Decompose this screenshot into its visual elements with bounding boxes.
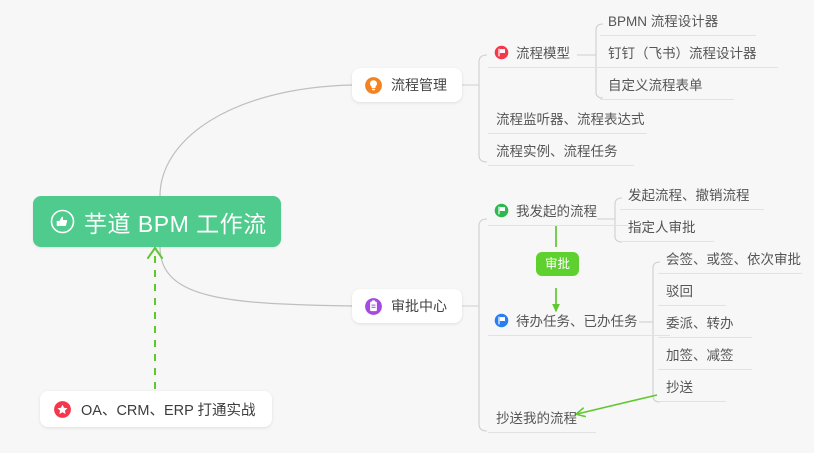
leaf-start-cancel-process[interactable]: 发起流程、撤销流程 [620, 187, 764, 210]
leaf-reject[interactable]: 驳回 [658, 283, 726, 306]
lightbulb-icon [364, 76, 383, 95]
leaf-carbon-copy[interactable]: 抄送 [658, 379, 726, 402]
leaf-cc-to-me[interactable]: 抄送我的流程 [488, 410, 596, 433]
approval-annotation-pill: 审批 [536, 252, 579, 276]
branch-approval-center[interactable]: 审批中心 [352, 289, 462, 323]
clipboard-icon [364, 297, 383, 316]
leaf-my-initiated-label: 我发起的流程 [516, 204, 597, 219]
leaf-process-model-label: 流程模型 [516, 46, 570, 61]
branch-process-management-label: 流程管理 [391, 75, 447, 95]
leaf-custom-process-form[interactable]: 自定义流程表单 [600, 77, 734, 100]
flag-icon [494, 45, 509, 60]
leaf-listener-expression[interactable]: 流程监听器、流程表达式 [488, 111, 647, 134]
branch-process-management[interactable]: 流程管理 [352, 68, 462, 102]
leaf-todo-done-tasks-label: 待办任务、已办任务 [516, 314, 638, 329]
leaf-my-initiated[interactable]: 我发起的流程 [488, 203, 628, 226]
leaf-bpmn-designer[interactable]: BPMN 流程设计器 [600, 13, 756, 36]
thumbs-up-icon [50, 209, 75, 234]
root-node[interactable]: 芋道 BPM 工作流 [33, 196, 281, 247]
flag-icon [494, 203, 509, 218]
mindmap-canvas: 芋道 BPM 工作流 OA、CRM、ERP 打通实战 流程管理 [0, 0, 814, 453]
flag-icon [494, 313, 509, 328]
leaf-todo-done-tasks[interactable]: 待办任务、已办任务 [488, 313, 670, 336]
leaf-countersign-modes[interactable]: 会签、或签、依次审批 [658, 251, 802, 274]
leaf-process-model[interactable]: 流程模型 [488, 45, 608, 68]
star-icon [53, 400, 72, 419]
root-label: 芋道 BPM 工作流 [84, 205, 267, 239]
leaf-instance-task[interactable]: 流程实例、流程任务 [488, 143, 634, 166]
leaf-delegate-transfer[interactable]: 委派、转办 [658, 315, 752, 338]
bottom-note-label: OA、CRM、ERP 打通实战 [81, 399, 256, 420]
leaf-dingtalk-feishu-designer[interactable]: 钉钉（飞书）流程设计器 [600, 45, 778, 68]
bottom-note-card[interactable]: OA、CRM、ERP 打通实战 [40, 391, 272, 427]
leaf-add-remove-sign[interactable]: 加签、减签 [658, 347, 752, 370]
leaf-assignee-approval[interactable]: 指定人审批 [620, 219, 714, 242]
branch-approval-center-label: 审批中心 [391, 296, 447, 316]
